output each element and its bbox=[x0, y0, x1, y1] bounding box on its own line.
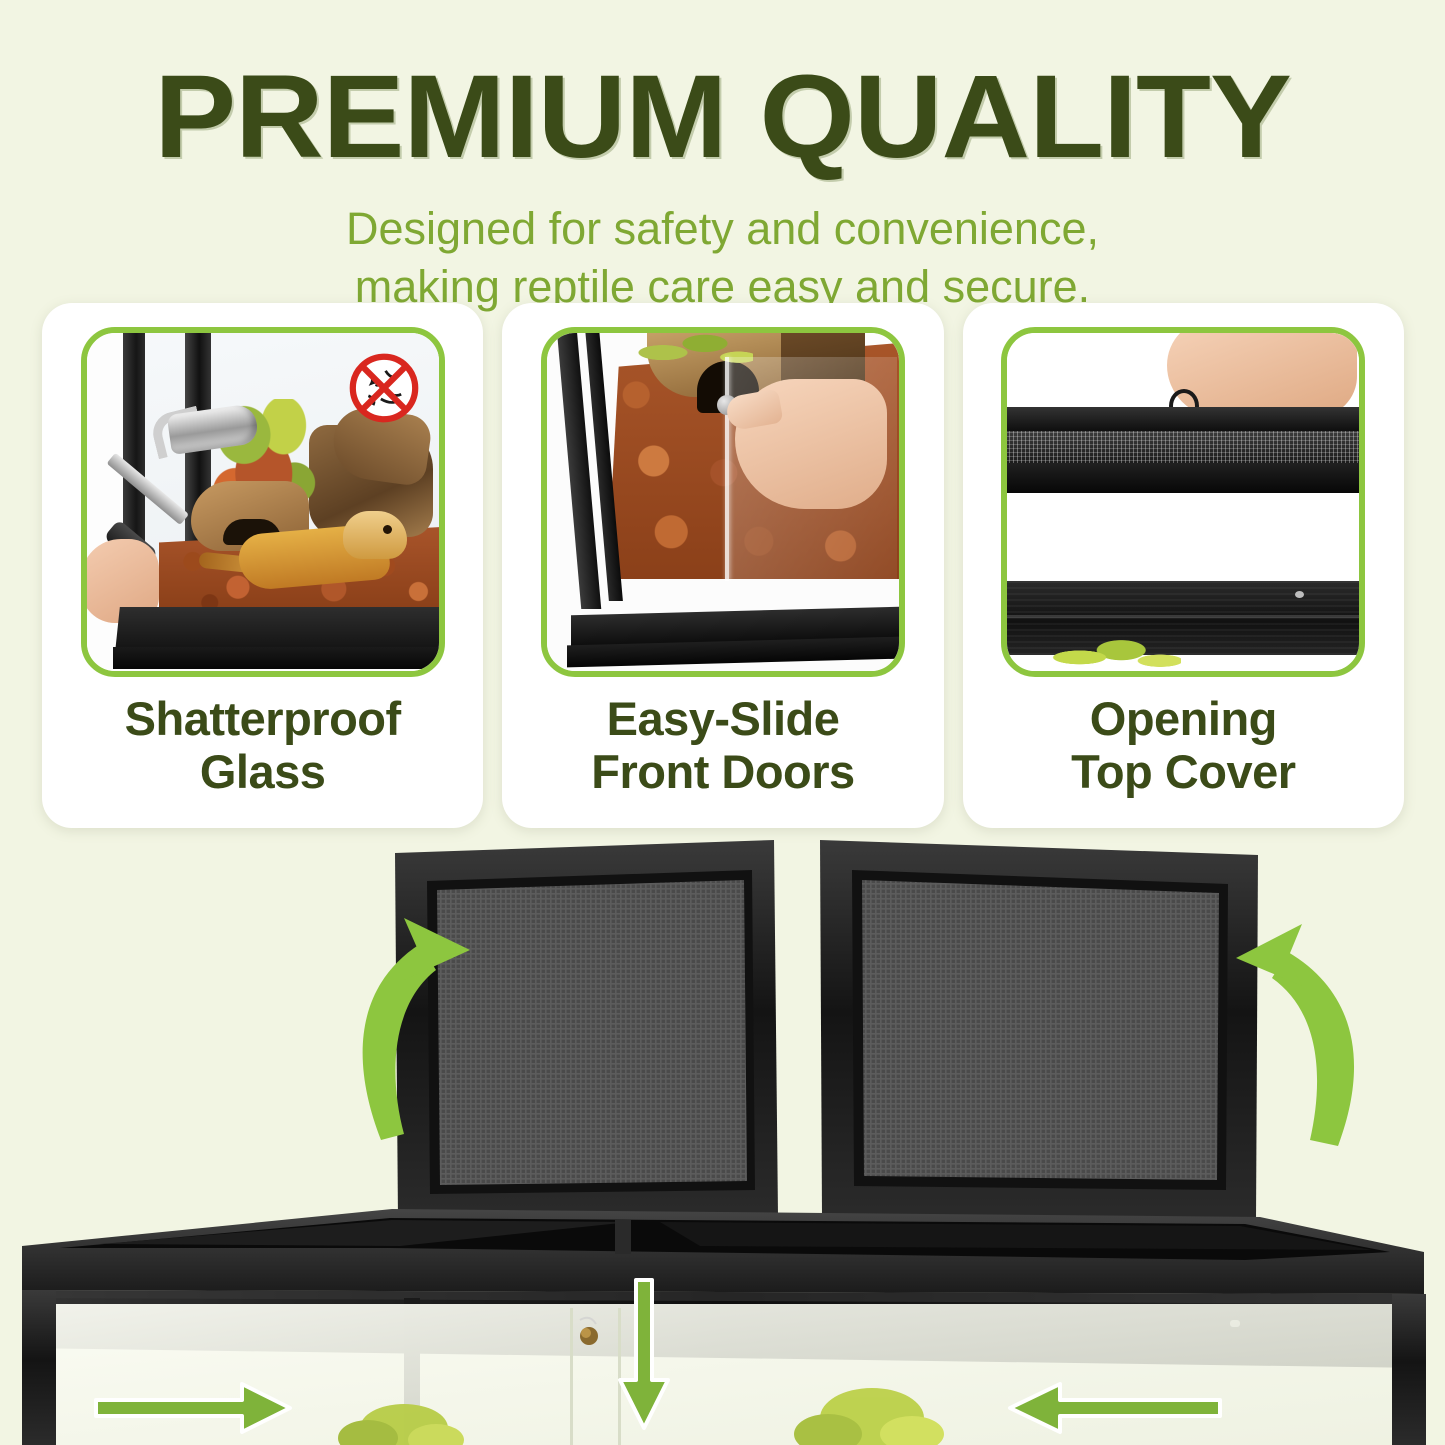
page-title: PREMIUM QUALITY bbox=[0, 0, 1445, 176]
frame-highlight-line bbox=[1005, 615, 1365, 618]
bearded-dragon-head bbox=[343, 511, 407, 559]
feature-card-label: Shatterproof Glass bbox=[125, 693, 401, 798]
feature-label-line-2: Glass bbox=[125, 746, 401, 799]
shatterproof-glass-photo bbox=[81, 327, 445, 677]
feature-card-opening-top-cover[interactable]: Opening Top Cover bbox=[963, 303, 1404, 828]
top-cover-frame bbox=[1005, 407, 1365, 433]
door-seam-right bbox=[618, 1308, 621, 1445]
feature-label-line-2: Top Cover bbox=[1071, 746, 1295, 799]
sliding-door-edge bbox=[725, 357, 729, 581]
feature-card-shatterproof-glass[interactable]: Shatterproof Glass bbox=[42, 303, 483, 828]
subtitle-line-1: Designed for safety and convenience, bbox=[0, 200, 1445, 258]
bearded-dragon-eye bbox=[383, 525, 392, 534]
feature-label-line-1: Shatterproof bbox=[125, 692, 401, 745]
no-crack-prohibition-icon bbox=[345, 349, 423, 427]
feature-label-line-2: Front Doors bbox=[591, 746, 854, 799]
mesh-screen bbox=[1005, 431, 1365, 465]
feature-card-label: Easy-Slide Front Doors bbox=[591, 693, 854, 798]
terrarium-left-post bbox=[22, 1290, 56, 1445]
terrarium-right-post bbox=[1392, 1294, 1426, 1445]
terrarium-top-rim bbox=[22, 1209, 1424, 1294]
feature-card-easy-slide-front-doors[interactable]: Easy-Slide Front Doors bbox=[502, 303, 943, 828]
opening-top-cover-photo bbox=[1001, 327, 1365, 677]
feature-card-label: Opening Top Cover bbox=[1071, 693, 1295, 798]
artificial-plant bbox=[1051, 631, 1181, 677]
mesh-top-panel-right bbox=[820, 840, 1258, 1221]
product-photo bbox=[0, 828, 1445, 1445]
terrarium-base-foot bbox=[113, 647, 445, 669]
mesh-top-panel-left bbox=[395, 840, 778, 1220]
easy-slide-doors-photo bbox=[541, 327, 905, 677]
page-subtitle: Designed for safety and convenience, mak… bbox=[0, 176, 1445, 315]
top-cover-lower-frame bbox=[1005, 463, 1365, 493]
feature-cards-row: Shatterproof Glass Easy-Slide Front Door… bbox=[42, 303, 1404, 828]
feature-label-line-1: Opening bbox=[1090, 692, 1277, 745]
door-seam-left bbox=[570, 1308, 573, 1445]
header-section: PREMIUM QUALITY Designed for safety and … bbox=[0, 0, 1445, 300]
feature-label-line-1: Easy-Slide bbox=[607, 692, 840, 745]
